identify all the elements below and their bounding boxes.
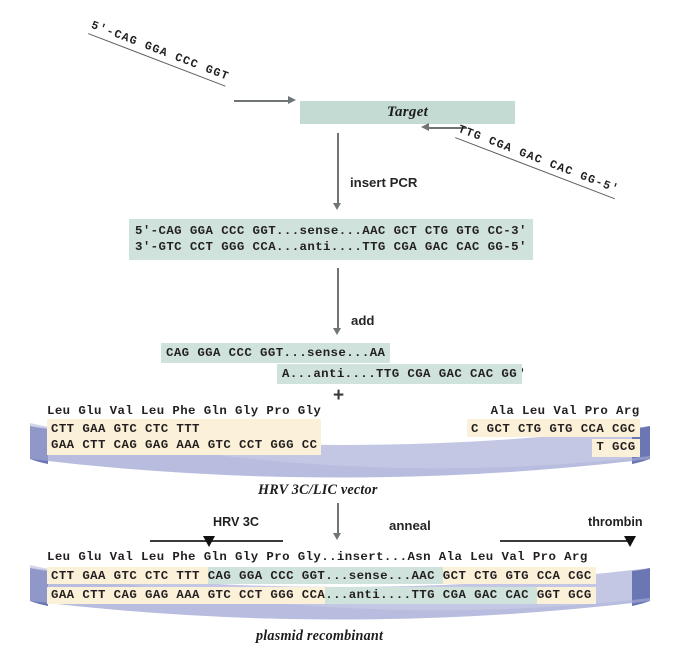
t4-bottom-strand: A...anti....TTG CGA GAC CAC GG <box>277 364 522 384</box>
reverse-primer-sequence: TTG CGA GAC CAC GG-5' <box>455 123 621 199</box>
vector-left-top-strand: CTT GAA GTC CTC TTT <box>47 419 321 437</box>
recombinant-aa-row: Leu Glu Val Leu Phe Gln Gly Pro Gly..ins… <box>47 550 588 565</box>
forward-primer-group: 5'-CAG GGA CCC GGT <box>88 18 235 34</box>
recombinant-aa-mid: Gln Gly Pro Gly..insert...Asn <box>204 550 439 564</box>
hrv3c-site-line <box>150 540 283 542</box>
reverse-primer-group: TTG CGA GAC CAC GG-5' <box>455 122 626 138</box>
pcr-bottom-strand: 3'-GTC CCT GGG CCA...anti....TTG CGA GAC… <box>135 239 527 255</box>
recombinant-bottom-teal-mid: ...anti....TTG CGA GAC CAC <box>325 587 537 604</box>
recombinant-top-strand: CTT GAA GTC CTC TTT CAG GGA CCC GGT...se… <box>47 566 596 584</box>
figure-canvas: 5'-CAG GGA CCC GGT Target TTG CGA GAC CA… <box>0 0 680 665</box>
hrv3c-site-label: HRV 3C <box>213 515 259 529</box>
reverse-primer-arrowhead <box>421 123 429 131</box>
pcr-top-strand: 5'-CAG GGA CCC GGT...sense...AAC GCT CTG… <box>135 223 527 239</box>
t4-label-line1: add <box>351 312 524 329</box>
thrombin-site-line <box>500 540 630 542</box>
vector-right-aa: Ala Leu Val Pro Arg <box>467 404 640 419</box>
t4-top-strand: CAG GGA CCC GGT...sense...AA <box>161 343 390 363</box>
hrv3c-site-marker <box>203 536 215 547</box>
vector-left-aa: Leu Glu Val Leu Phe Gln Gly Pro Gly <box>47 404 321 419</box>
recombinant-bottom-cream-left: GAA CTT CAG GAG AAA GTC CCT GGG CCA <box>47 587 325 604</box>
recombinant-top-teal-mid: CAG GGA CCC GGT...sense...AAC <box>208 567 443 584</box>
t4-product-top-wrap: CAG GGA CCC GGT...sense...AA <box>161 343 390 361</box>
target-label: Target <box>387 104 428 121</box>
forward-primer-arrowhead <box>288 96 296 104</box>
recombinant-caption: plasmid recombinant <box>256 628 383 645</box>
pcr-product-block: 5'-CAG GGA CCC GGT...sense...AAC GCT CTG… <box>129 219 533 260</box>
thrombin-site-label: thrombin <box>588 515 643 529</box>
recombinant-aa-left: Leu Glu Val Leu Phe <box>47 550 204 564</box>
recombinant-top-cream-left: CTT GAA GTC CTC TTT <box>47 567 208 584</box>
recombinant-bottom-strand: GAA CTT CAG GAG AAA GTC CCT GGG CCA...an… <box>47 585 596 603</box>
thrombin-site-marker <box>624 536 636 547</box>
forward-primer-arrow-shaft <box>234 100 290 102</box>
t4-product-bottom-wrap: A...anti....TTG CGA GAC CAC GG <box>277 364 522 382</box>
anneal-arrow-shaft <box>337 503 339 535</box>
t4-arrow-shaft <box>337 268 339 330</box>
vector-right-block: Ala Leu Val Pro Arg C GCT CTG GTG CCA CG… <box>467 404 640 457</box>
insert-pcr-arrowhead <box>333 203 341 210</box>
forward-primer-sequence: 5'-CAG GGA CCC GGT <box>88 19 231 87</box>
vector-right-top-strand: C GCT CTG GTG CCA CGC <box>467 419 640 437</box>
recombinant-top-cream-right: GCT CTG GTG CCA CGC <box>443 567 596 584</box>
t4-arrowhead <box>333 328 341 335</box>
recombinant-aa-right: Ala Leu Val Pro Arg <box>439 550 588 564</box>
recombinant-bottom-cream-right: GGT GCG <box>537 587 596 604</box>
target-box: Target <box>300 101 515 124</box>
anneal-arrowhead <box>333 533 341 540</box>
insert-pcr-label: insert PCR <box>350 174 417 191</box>
vector-left-bottom-strand: GAA CTT CAG GAG AAA GTC CCT GGG CC <box>47 437 321 455</box>
insert-pcr-arrow-shaft <box>337 133 339 205</box>
vector-left-block: Leu Glu Val Leu Phe Gln Gly Pro Gly CTT … <box>47 404 321 455</box>
vector-caption: HRV 3C/LIC vector <box>258 482 378 499</box>
vector-right-bottom-strand: T GCG <box>592 439 639 457</box>
anneal-label: anneal <box>389 517 431 534</box>
